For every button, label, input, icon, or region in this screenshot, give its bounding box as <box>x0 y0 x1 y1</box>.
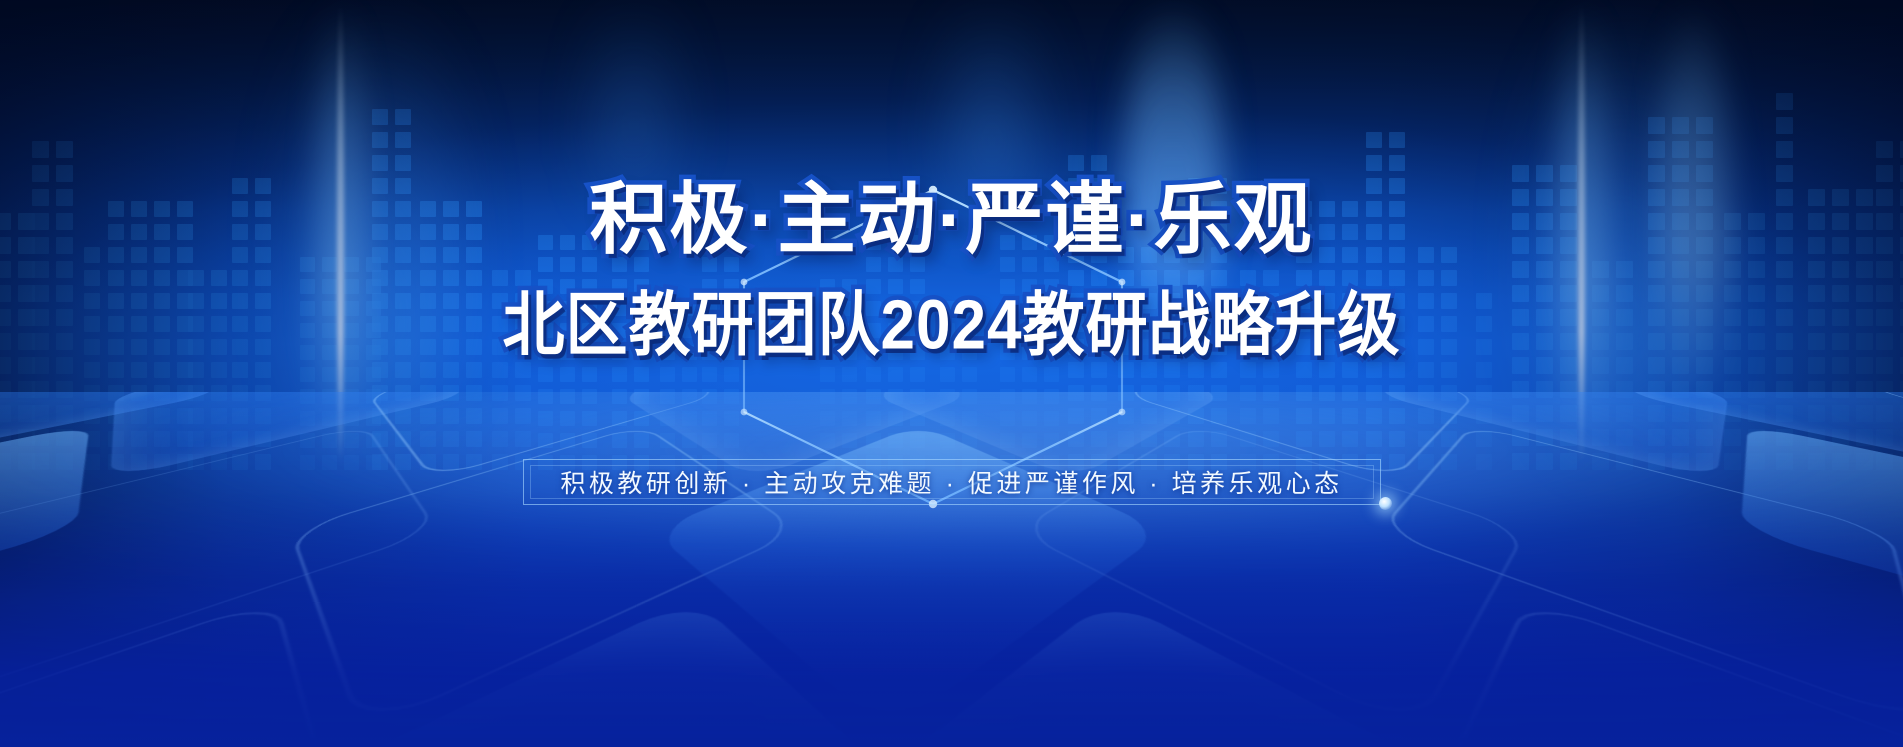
tagline-frame: 积极教研创新 · 主动攻克难题 · 促进严谨作风 · 培养乐观心态 <box>523 459 1381 505</box>
banner-subtitle-text: 北区教研团队2024教研战略升级 <box>503 291 1401 360</box>
banner-subtitle: 北区教研团队2024教研战略升级 <box>503 295 1401 357</box>
banner-content: 积极·主动·严谨·乐观 北区教研团队2024教研战略升级 积极教研创新 · 主动… <box>0 0 1903 747</box>
glow-node-dot <box>1379 497 1392 510</box>
banner-stage: 积极·主动·严谨·乐观 北区教研团队2024教研战略升级 积极教研创新 · 主动… <box>0 0 1903 747</box>
banner-tagline: 积极教研创新 · 主动攻克难题 · 促进严谨作风 · 培养乐观心态 <box>560 464 1342 500</box>
banner-title: 积极·主动·严谨·乐观 <box>590 180 1314 258</box>
